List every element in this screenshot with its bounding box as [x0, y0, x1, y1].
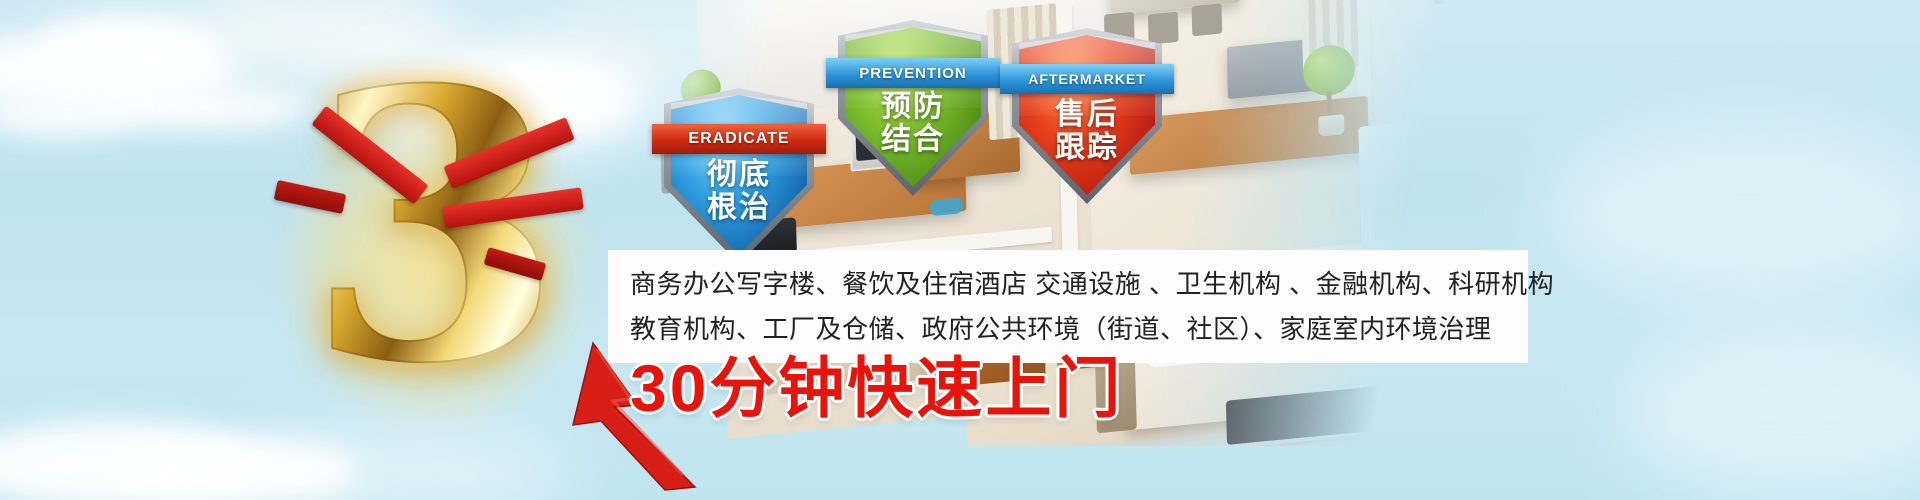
scope-line-1: 商务办公写字楼、餐饮及住宿酒店 交通设施 、卫生机构 、金融机构、科研机构 — [630, 262, 1506, 307]
shield-sash-label: ERADICATE — [652, 124, 826, 154]
shield-cn-line1: 预防 — [838, 90, 988, 123]
shield-sash-label: PREVENTION — [826, 58, 1000, 88]
sink — [1548, 136, 1615, 194]
dining-chair — [1192, 3, 1223, 36]
promo-banner: 3 彻底 根治 ERADICATE 预防 结合 PREVENTION — [0, 0, 1920, 500]
service-scope-panel: 商务办公写字楼、餐饮及住宿酒店 交通设施 、卫生机构 、金融机构、科研机构 教育… — [608, 250, 1528, 363]
shield-cn-line1: 彻底 — [664, 158, 814, 191]
oven — [1471, 148, 1536, 212]
cloud-icon — [0, 96, 140, 136]
shield-sash-label: AFTERMARKET — [1000, 64, 1174, 94]
shield-cn-line2: 根治 — [664, 191, 814, 224]
kitchen-island — [1358, 118, 1450, 209]
headline-text: 30分钟快速上门 — [630, 355, 1123, 421]
shield-eradicate[interactable]: 彻底 根治 ERADICATE — [664, 88, 814, 264]
shield-cn-line1: 售后 — [1012, 98, 1162, 131]
shield-cn-line2: 跟踪 — [1012, 131, 1162, 164]
marble-panel — [1806, 65, 1899, 194]
shield-cn-line2: 结合 — [838, 123, 988, 156]
shield-chinese-text: 售后 跟踪 — [1012, 98, 1162, 164]
shield-aftermarket[interactable]: 售后 跟踪 AFTERMARKET — [1012, 28, 1162, 204]
shield-chinese-text: 彻底 根治 — [664, 158, 814, 224]
shield-prevention[interactable]: 预防 结合 PREVENTION — [838, 20, 988, 196]
range-hood — [1502, 0, 1546, 63]
scope-line-2: 教育机构、工厂及仓储、政府公共环境（街道、社区）、家庭室内环境治理 — [630, 307, 1506, 352]
shield-chinese-text: 预防 结合 — [838, 90, 988, 156]
